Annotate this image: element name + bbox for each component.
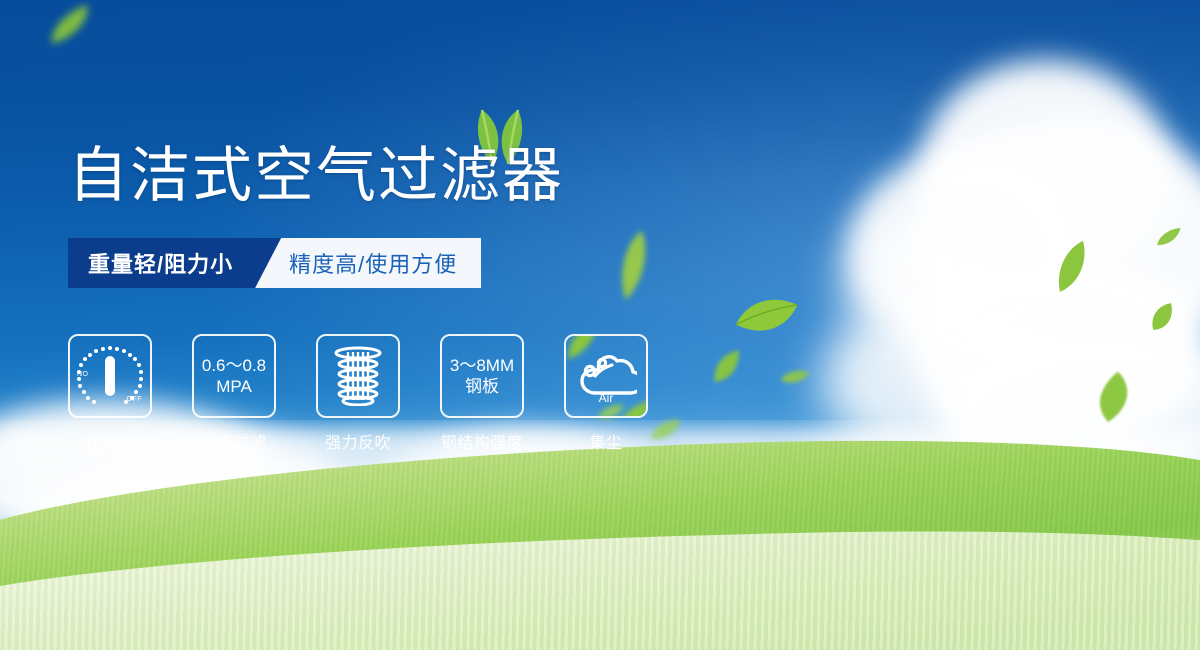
steel-material: 钢板 (450, 376, 514, 397)
feature-label: 强力反吹 (325, 429, 391, 453)
feature-item-secondary-filtration[interactable]: 0.6～0.8 MPA 二级过滤 (192, 334, 276, 453)
steel-plate-value-icon: 3～8MM 钢板 (440, 334, 524, 418)
gauge-label-off: OFF (127, 396, 143, 403)
air-cloud-icon: Air (564, 334, 648, 418)
feature-item-steel-strength[interactable]: 3～8MM 钢板 钢结构强度 (440, 334, 524, 453)
pressure-value-text: 0.6～0.8 MPA (202, 355, 266, 397)
product-banner: 自洁式空气过滤器 重量轻/阻力小 精度高/使用方便 (0, 0, 1200, 650)
feature-item-dust-collection[interactable]: Air 集尘 (564, 334, 648, 453)
gauge-graphic: NO OFF (79, 345, 141, 407)
filter-coil-icon (316, 334, 400, 418)
page-title: 自洁式空气过滤器 (68, 143, 564, 209)
feature-label: 二级过滤 (201, 429, 267, 453)
gauge-needle (105, 356, 115, 396)
subtitle-left: 重量轻/阻力小 (68, 238, 255, 288)
banner-content: 自洁式空气过滤器 重量轻/阻力小 精度高/使用方便 (0, 0, 1200, 650)
feature-label: 集尘 (589, 429, 622, 453)
feature-list: NO OFF 控制仪 0.6～0.8 MPA 二级过滤 (68, 334, 648, 453)
coil-graphic (330, 346, 386, 406)
feature-item-blowback[interactable]: 强力反吹 (316, 334, 400, 453)
subtitle-bar: 重量轻/阻力小 精度高/使用方便 (68, 238, 481, 288)
gauge-label-no: NO (77, 371, 89, 378)
pressure-unit: MPA (202, 376, 266, 397)
feature-item-controller[interactable]: NO OFF 控制仪 (68, 334, 152, 453)
subtitle-wedge-divider (255, 238, 281, 288)
air-label: Air (599, 391, 614, 405)
feature-label: 钢结构强度 (441, 429, 524, 453)
steel-plate-text: 3～8MM 钢板 (450, 355, 514, 397)
gauge-dial-icon: NO OFF (68, 334, 152, 418)
feature-label: 控制仪 (85, 429, 135, 453)
steel-thickness: 3～8MM (450, 355, 514, 376)
pressure-range: 0.6～0.8 (202, 355, 266, 376)
pressure-value-icon: 0.6～0.8 MPA (192, 334, 276, 418)
subtitle-right: 精度高/使用方便 (281, 238, 481, 288)
cloud-dust-graphic: Air (575, 346, 637, 406)
